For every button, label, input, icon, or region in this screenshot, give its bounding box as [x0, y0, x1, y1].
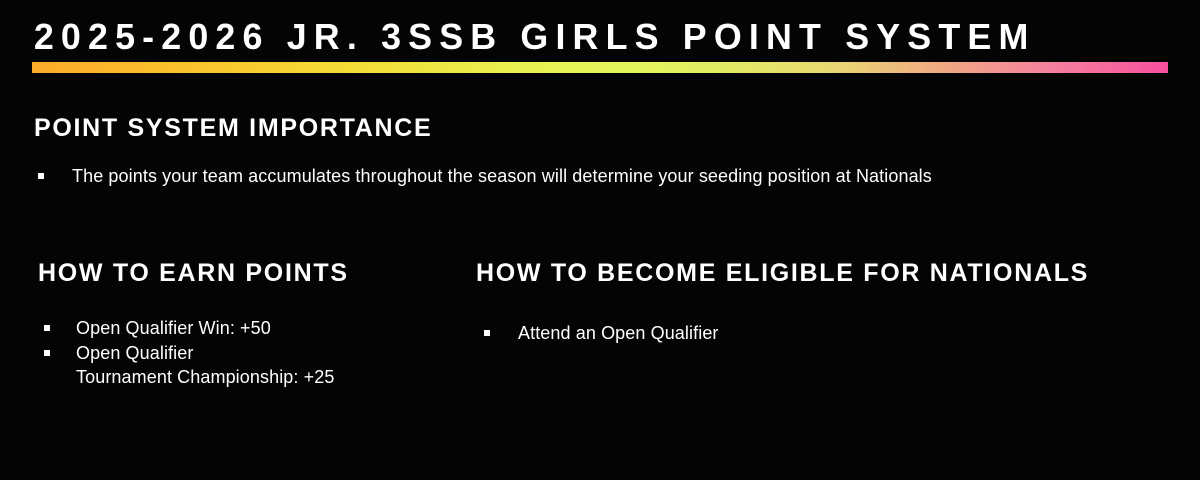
list-item-text: The points your team accumulates through…: [72, 164, 932, 188]
page-title: 2025-2026 JR. 3SSB GIRLS POINT SYSTEM: [0, 14, 1194, 60]
square-bullet-icon: [38, 173, 44, 179]
list-item: Open Qualifier Win: +50: [44, 316, 438, 340]
slide-canvas: 2025-2026 JR. 3SSB GIRLS POINT SYSTEM PO…: [0, 0, 1200, 480]
list-item-text: Open Qualifier Win: +50: [76, 316, 271, 340]
section-heading-importance: POINT SYSTEM IMPORTANCE: [34, 113, 1174, 143]
title-block: 2025-2026 JR. 3SSB GIRLS POINT SYSTEM: [0, 14, 1200, 60]
list-item-text: Attend an Open Qualifier: [518, 321, 719, 345]
eligible-bullet-list: Attend an Open Qualifier: [484, 321, 1176, 345]
section-how-to-become-eligible: HOW TO BECOME ELIGIBLE FOR NATIONALS Att…: [476, 258, 1176, 345]
importance-bullet-list: The points your team accumulates through…: [38, 164, 1174, 188]
list-item: Attend an Open Qualifier: [484, 321, 1176, 345]
section-heading-eligible: HOW TO BECOME ELIGIBLE FOR NATIONALS: [476, 258, 1176, 288]
square-bullet-icon: [484, 330, 490, 336]
section-heading-earn-points: HOW TO EARN POINTS: [38, 258, 438, 288]
section-how-to-earn-points: HOW TO EARN POINTS Open Qualifier Win: +…: [38, 258, 438, 389]
earn-points-bullet-list: Open Qualifier Win: +50 Open Qualifier T…: [44, 316, 438, 389]
section-point-system-importance: POINT SYSTEM IMPORTANCE The points your …: [34, 113, 1174, 188]
square-bullet-icon: [44, 325, 50, 331]
list-item-text: Open Qualifier Tournament Championship: …: [76, 341, 334, 389]
list-item: The points your team accumulates through…: [38, 164, 1174, 188]
gradient-divider: [32, 62, 1168, 73]
list-item: Open Qualifier Tournament Championship: …: [44, 341, 438, 389]
square-bullet-icon: [44, 350, 50, 356]
